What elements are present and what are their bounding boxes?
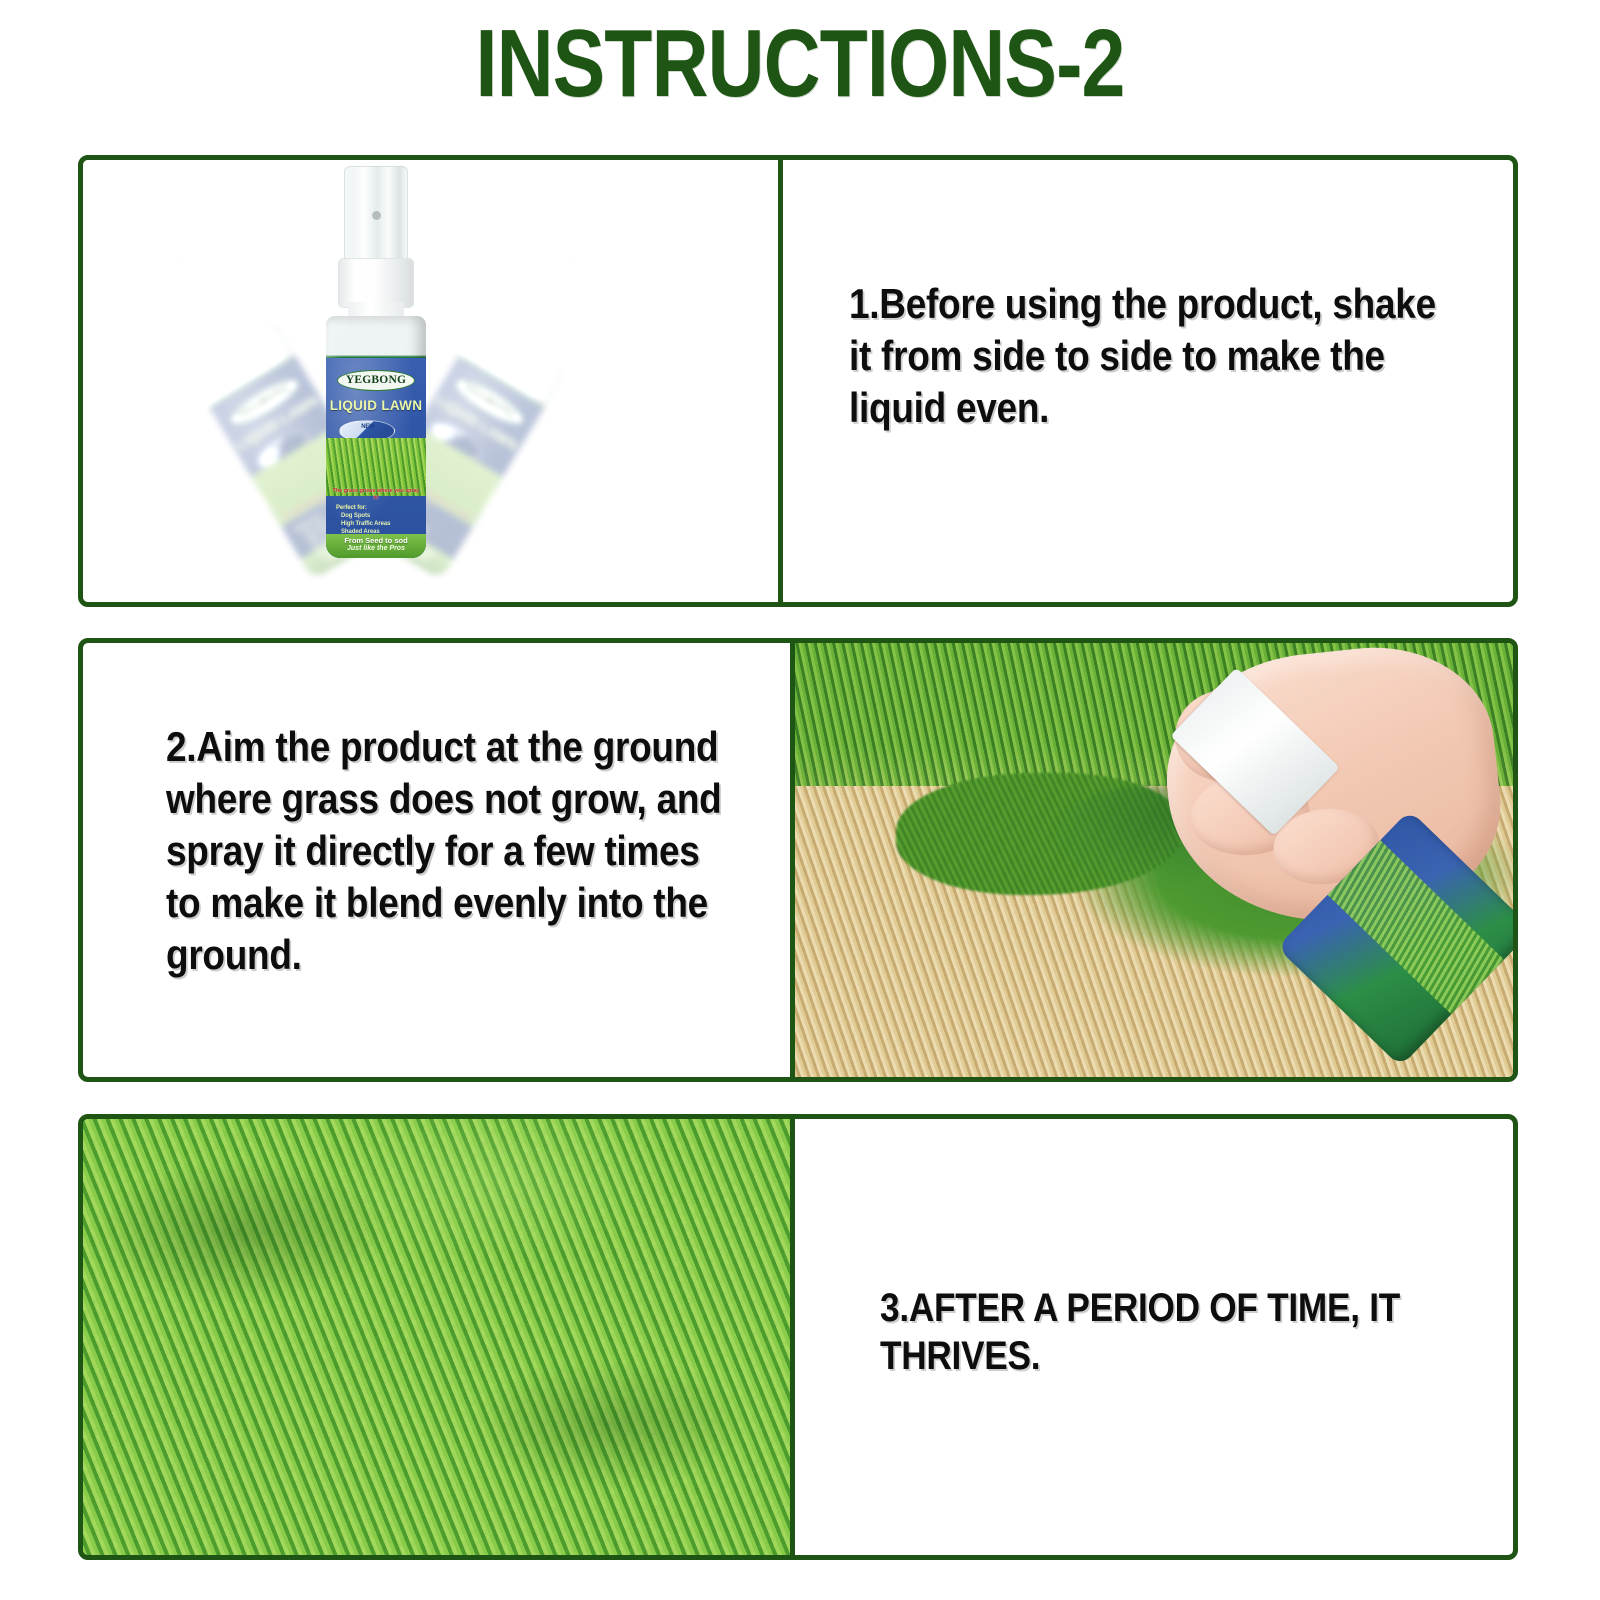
page-title: INSTRUCTIONS-2 <box>144 14 1456 114</box>
step-2-panel: 2.Aim the product at the ground where gr… <box>78 638 1518 1082</box>
lush-green-lawn-photo <box>83 1119 795 1555</box>
bottle-label: YEGBONG LIQUID LAWN NEW The grass grows … <box>326 358 426 558</box>
bottle-collar <box>338 258 414 308</box>
bottle-footer: From Seed to sod Just like the Pros <box>326 534 426 558</box>
step-3-media-cell <box>83 1119 795 1555</box>
product-bottles-image: YEGBONG LIQUID LAWN NEW The grass grows … <box>83 160 783 602</box>
bottle-tagline: The grass grows where you spray it! <box>330 488 422 502</box>
bottle-perfect-for-heading: Perfect for: <box>336 504 420 512</box>
step-1-instruction-text: 1.Before using the product, shake it fro… <box>849 278 1465 434</box>
step-1-text-cell: 1.Before using the product, shake it fro… <box>783 160 1513 602</box>
bottle-body: YEGBONG LIQUID LAWN NEW The grass grows … <box>326 316 426 558</box>
step-2-media-cell <box>795 643 1513 1077</box>
bottle-cap-icon <box>344 166 408 264</box>
step-3-panel: 3.AFTER A PERIOD OF TIME, IT THRIVES. <box>78 1114 1518 1560</box>
bottle-badge-text: NEW <box>340 424 395 431</box>
bottle-perfect-for-list: Perfect for: Dog Spots High Traffic Area… <box>336 504 420 536</box>
bottle-perfect-for-item: Dog Spots <box>341 512 420 520</box>
step-3-instruction-text: 3.AFTER A PERIOD OF TIME, IT THRIVES. <box>880 1284 1478 1380</box>
step-3-text-cell: 3.AFTER A PERIOD OF TIME, IT THRIVES. <box>795 1119 1513 1555</box>
bottle-product-name: LIQUID LAWN <box>326 398 426 413</box>
bottle-footer-line-1: From Seed to sod <box>326 536 426 545</box>
step-1-panel: YEGBONG LIQUID LAWN NEW The grass grows … <box>78 155 1518 607</box>
step-2-text-cell: 2.Aim the product at the ground where gr… <box>83 643 795 1077</box>
product-bottle-main: YEGBONG LIQUID LAWN NEW The grass grows … <box>316 166 436 558</box>
instructions-page: INSTRUCTIONS-2 YEGBONG LIQUID LAWN NEW <box>0 0 1600 1600</box>
spraying-dead-lawn-photo <box>795 643 1513 1077</box>
step-2-instruction-text: 2.Aim the product at the ground where gr… <box>166 721 729 981</box>
bottle-perfect-for-item: High Traffic Areas <box>341 520 420 528</box>
step-1-media-cell: YEGBONG LIQUID LAWN NEW The grass grows … <box>83 160 783 602</box>
bottle-footer-line-2: Just like the Pros <box>326 545 426 553</box>
bottle-brand-text: YEGBONG <box>337 370 415 391</box>
